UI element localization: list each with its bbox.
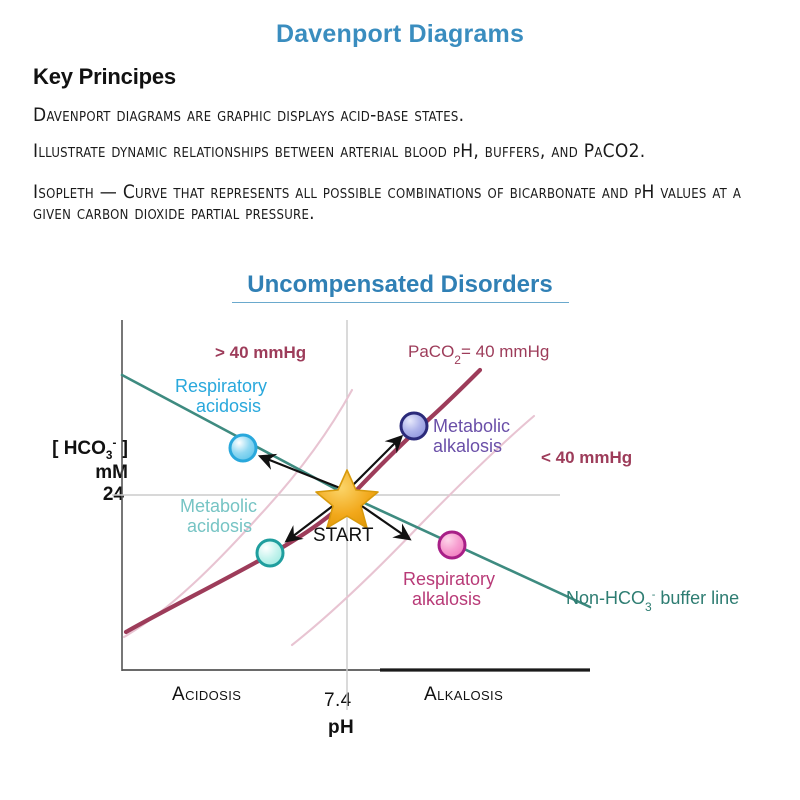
davenport-chart: > 40 mmHg PaCO2= 40 mmHg < 40 mmHg Respi… [0, 310, 800, 730]
arrow-to-metabolic-alkalosis [352, 438, 400, 486]
label-metabolic-acidosis-2: acidosis [187, 516, 252, 536]
label-isopleth-gt40: > 40 mmHg [215, 343, 306, 362]
bullet-text-1: Davenport diagrams are graphic displays … [33, 104, 464, 126]
point-respiratory-alkalosis [439, 532, 465, 558]
label-isopleth-lt40: < 40 mmHg [541, 448, 632, 467]
label-respiratory-acidosis-2: acidosis [196, 396, 261, 416]
davenport-diagram-page: Davenport Diagrams Key Principes Davenpo… [0, 0, 800, 800]
bullet-text-3: Isopleth — Curve that represents all pos… [33, 182, 778, 225]
label-respiratory-alkalosis-2: alkalosis [412, 589, 481, 609]
arrow-to-respiratory-acidosis [262, 457, 340, 488]
point-metabolic-acidosis [257, 540, 283, 566]
bullet-text-2: Illustrate dynamic relationships between… [33, 140, 646, 162]
section-title: Uncompensated Disorders [0, 271, 800, 299]
label-metabolic-acidosis: Metabolic [180, 496, 257, 516]
page-title: Davenport Diagrams [0, 20, 800, 49]
label-metabolic-alkalosis-2: alkalosis [433, 436, 502, 456]
point-metabolic-alkalosis [401, 413, 427, 439]
label-non-hco3-buffer-line: Non-HCO3- buffer line [566, 588, 739, 614]
label-isopleth-paco2-40: PaCO2= 40 mmHg [408, 342, 549, 367]
label-respiratory-alkalosis: Respiratory [403, 569, 495, 589]
section-title-underline [232, 302, 569, 303]
label-metabolic-alkalosis: Metabolic [433, 416, 510, 436]
key-principles-heading: Key Principes [33, 64, 176, 90]
label-start: START [313, 525, 374, 546]
label-respiratory-acidosis: Respiratory [175, 376, 267, 396]
point-respiratory-acidosis [230, 435, 256, 461]
